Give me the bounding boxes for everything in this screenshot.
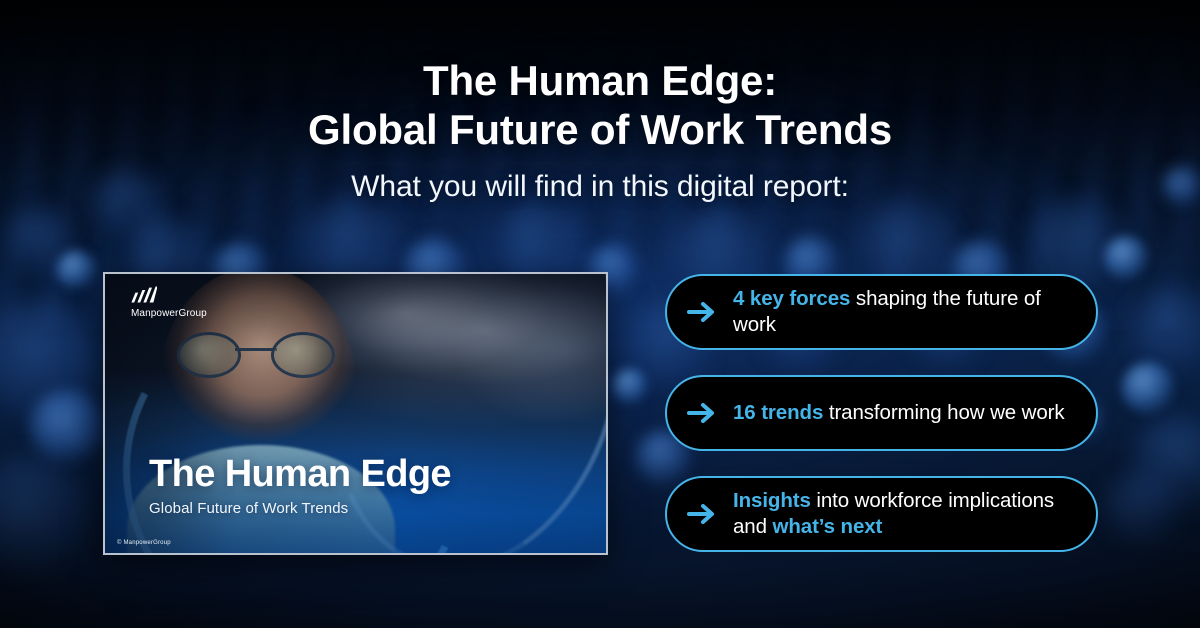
highlight-pill-1-text: 4 key forces shaping the future of work: [733, 286, 1074, 338]
header-block: The Human Edge: Global Future of Work Tr…: [0, 56, 1200, 204]
cover-copyright: © ManpowerGroup: [117, 540, 171, 546]
arrow-right-icon: [687, 400, 717, 426]
highlights-list: 4 key forces shaping the future of work …: [665, 274, 1098, 552]
highlight-pill-2-text: 16 trends transforming how we work: [733, 400, 1065, 426]
page-title: The Human Edge: Global Future of Work Tr…: [0, 56, 1200, 154]
report-cover-card[interactable]: ManpowerGroup The Human Edge Global Futu…: [103, 272, 608, 555]
cover-text-block: The Human Edge Global Future of Work Tre…: [149, 455, 451, 517]
arrow-right-icon: [687, 299, 717, 325]
manpowergroup-logo-icon: [131, 286, 157, 303]
highlight-pill-1-emphasis: 4 key forces: [733, 287, 850, 310]
manpowergroup-logo-text: ManpowerGroup: [131, 308, 207, 319]
highlight-pill-2-emphasis: 16 trends: [733, 401, 823, 424]
highlight-pill-1[interactable]: 4 key forces shaping the future of work: [665, 274, 1098, 350]
highlight-pill-2-rest: transforming how we work: [823, 401, 1064, 424]
page-title-line-1: The Human Edge:: [0, 56, 1200, 105]
cover-title: The Human Edge: [149, 455, 451, 494]
highlight-pill-3[interactable]: Insights into workforce implications and…: [665, 476, 1098, 552]
manpowergroup-logo: ManpowerGroup: [131, 286, 207, 319]
page-title-line-2: Global Future of Work Trends: [0, 105, 1200, 154]
cover-subtitle: Global Future of Work Trends: [149, 500, 451, 517]
highlight-pill-3-emphasis: Insights: [733, 489, 811, 512]
highlight-pill-2[interactable]: 16 trends transforming how we work: [665, 375, 1098, 451]
highlight-pill-3-text: Insights into workforce implications and…: [733, 488, 1074, 540]
arrow-right-icon: [687, 501, 717, 527]
highlight-pill-3-emphasis-tail: what’s next: [773, 515, 883, 538]
promo-banner: The Human Edge: Global Future of Work Tr…: [0, 0, 1200, 628]
page-subtitle: What you will find in this digital repor…: [0, 170, 1200, 204]
